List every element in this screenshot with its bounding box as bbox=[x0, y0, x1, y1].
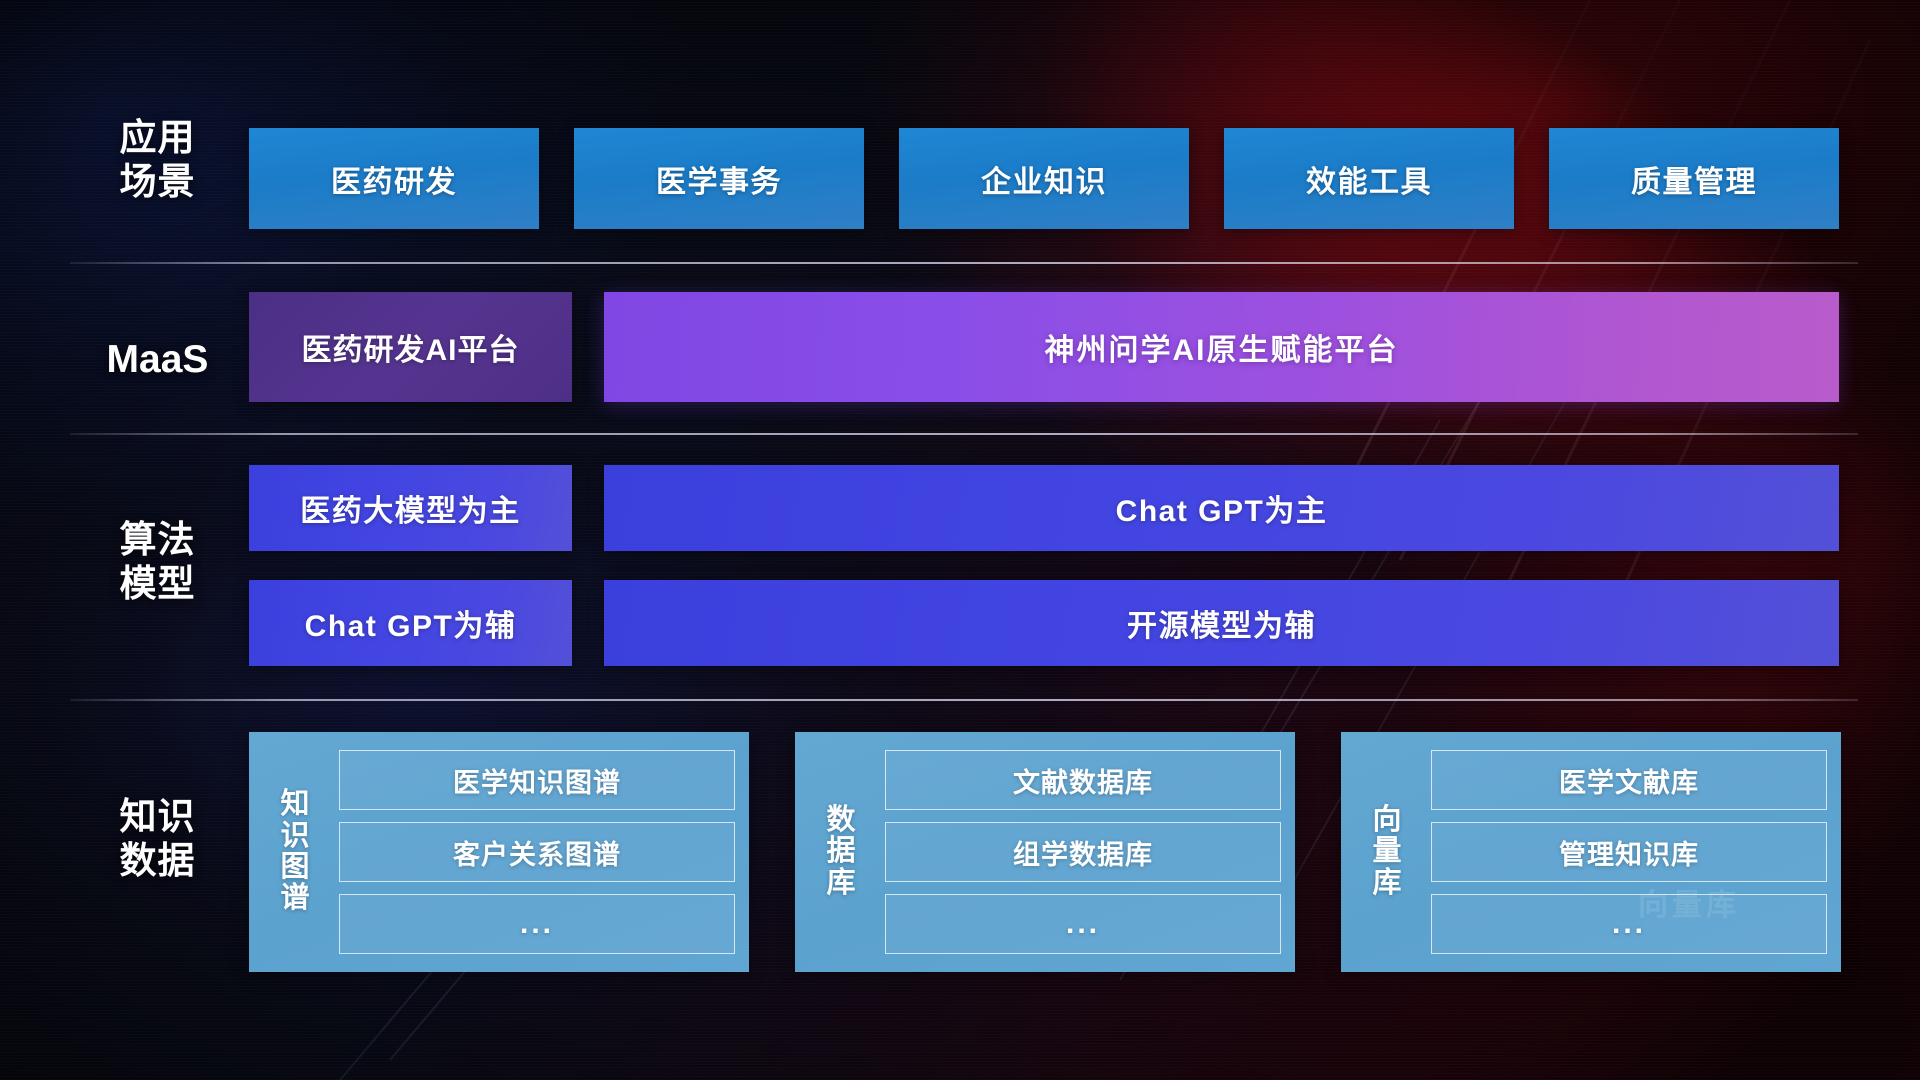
algorithm-box-primary-left-label: 医药大模型为主 bbox=[300, 486, 521, 530]
knowledge-item-more[interactable]: ... bbox=[1431, 894, 1827, 954]
algorithm-box-secondary-right[interactable]: 开源模型为辅 bbox=[604, 580, 1839, 666]
knowledge-group-vector-items: 医学文献库 管理知识库 ... bbox=[1423, 744, 1827, 960]
maas-platform-shenzhou-label: 神州问学AI原生赋能平台 bbox=[1045, 325, 1399, 369]
knowledge-item-more[interactable]: ... bbox=[885, 894, 1281, 954]
knowledge-item[interactable]: 客户关系图谱 bbox=[339, 822, 735, 882]
knowledge-group-vector-title-text: 向量库 bbox=[1371, 805, 1403, 899]
knowledge-group-database[interactable]: 数据库 文献数据库 组学数据库 ... bbox=[795, 732, 1295, 972]
knowledge-item[interactable]: 医学知识图谱 bbox=[339, 750, 735, 810]
knowledge-item-label: ... bbox=[1612, 907, 1646, 941]
scenario-box-5[interactable]: 质量管理 bbox=[1549, 128, 1839, 229]
knowledge-item-label: 医学知识图谱 bbox=[453, 761, 621, 800]
row-label-algorithm: 算法 模型 bbox=[70, 518, 245, 605]
knowledge-item-label: ... bbox=[1066, 907, 1100, 941]
knowledge-group-database-title-text: 数据库 bbox=[825, 805, 857, 899]
row-label-scenario: 应用 场景 bbox=[70, 116, 245, 203]
scenario-box-4[interactable]: 效能工具 bbox=[1224, 128, 1514, 229]
knowledge-item[interactable]: 医学文献库 bbox=[1431, 750, 1827, 810]
knowledge-item-label: ... bbox=[520, 907, 554, 941]
algorithm-box-secondary-left-label: Chat GPT为辅 bbox=[305, 601, 517, 645]
knowledge-item-label: 客户关系图谱 bbox=[453, 833, 621, 872]
scenario-box-3[interactable]: 企业知识 bbox=[899, 128, 1189, 229]
knowledge-group-vector[interactable]: 向量库 医学文献库 管理知识库 ... bbox=[1341, 732, 1841, 972]
maas-platform-shenzhou[interactable]: 神州问学AI原生赋能平台 bbox=[604, 292, 1839, 402]
scenario-box-2-label: 医学事务 bbox=[656, 157, 782, 201]
scenario-box-2[interactable]: 医学事务 bbox=[574, 128, 864, 229]
knowledge-group-graph[interactable]: 知识图谱 医学知识图谱 客户关系图谱 ... bbox=[249, 732, 749, 972]
knowledge-group-graph-title-text: 知识图谱 bbox=[279, 789, 311, 914]
maas-platform-medical[interactable]: 医药研发AI平台 bbox=[249, 292, 572, 402]
knowledge-item-more[interactable]: ... bbox=[339, 894, 735, 954]
knowledge-group-vector-title: 向量库 bbox=[1351, 744, 1423, 960]
knowledge-group-database-title: 数据库 bbox=[805, 744, 877, 960]
scenario-box-4-label: 效能工具 bbox=[1306, 157, 1432, 201]
algorithm-box-primary-right-label: Chat GPT为主 bbox=[1116, 486, 1328, 530]
algorithm-box-primary-right[interactable]: Chat GPT为主 bbox=[604, 465, 1839, 551]
algorithm-box-primary-left[interactable]: 医药大模型为主 bbox=[249, 465, 572, 551]
scenario-box-3-label: 企业知识 bbox=[981, 157, 1107, 201]
scenario-box-1-label: 医药研发 bbox=[331, 157, 457, 201]
knowledge-group-graph-title: 知识图谱 bbox=[259, 744, 331, 960]
knowledge-item-label: 组学数据库 bbox=[1013, 833, 1153, 872]
slide-canvas: 应用 场景 医药研发 医学事务 企业知识 效能工具 质量管理 MaaS 医药研发… bbox=[0, 0, 1920, 1080]
scenario-box-5-label: 质量管理 bbox=[1631, 157, 1757, 201]
algorithm-box-secondary-right-label: 开源模型为辅 bbox=[1127, 601, 1316, 645]
scenario-box-1[interactable]: 医药研发 bbox=[249, 128, 539, 229]
divider-algorithm-knowledge bbox=[70, 699, 1858, 701]
knowledge-item-label: 管理知识库 bbox=[1559, 833, 1699, 872]
knowledge-group-graph-items: 医学知识图谱 客户关系图谱 ... bbox=[331, 744, 735, 960]
algorithm-box-secondary-left[interactable]: Chat GPT为辅 bbox=[249, 580, 572, 666]
divider-scenario-maas bbox=[70, 262, 1858, 264]
knowledge-item[interactable]: 组学数据库 bbox=[885, 822, 1281, 882]
knowledge-item-label: 文献数据库 bbox=[1013, 761, 1153, 800]
knowledge-group-database-items: 文献数据库 组学数据库 ... bbox=[877, 744, 1281, 960]
maas-platform-medical-label: 医药研发AI平台 bbox=[302, 325, 520, 369]
row-label-knowledge: 知识 数据 bbox=[70, 795, 245, 882]
knowledge-item-label: 医学文献库 bbox=[1559, 761, 1699, 800]
knowledge-item[interactable]: 管理知识库 bbox=[1431, 822, 1827, 882]
row-label-maas: MaaS bbox=[70, 337, 245, 383]
knowledge-item[interactable]: 文献数据库 bbox=[885, 750, 1281, 810]
divider-maas-algorithm bbox=[70, 433, 1858, 435]
